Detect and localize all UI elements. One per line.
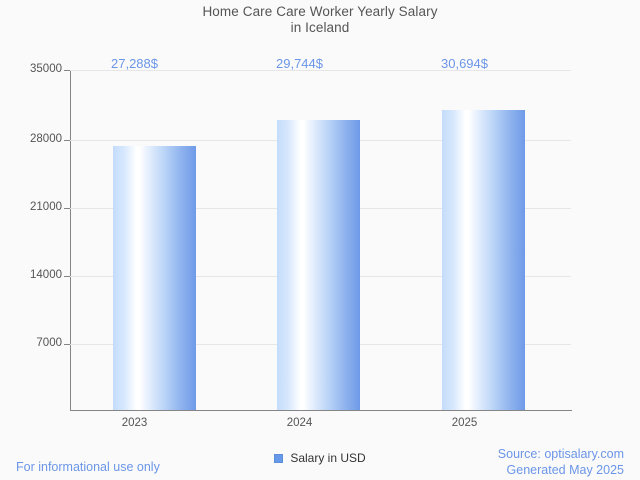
bar-2025[interactable] bbox=[442, 110, 525, 410]
x-tick-label-2024: 2024 bbox=[238, 417, 361, 429]
salary-bar-chart: Home Care Care Worker Yearly Salary in I… bbox=[0, 0, 640, 480]
footer-source: Source: optisalary.com bbox=[498, 446, 624, 462]
value-label-2024: 29,744$ bbox=[238, 56, 361, 71]
legend-swatch-icon bbox=[274, 454, 283, 463]
plot-area bbox=[70, 70, 571, 410]
chart-title-line1: Home Care Care Worker Yearly Salary bbox=[202, 4, 437, 19]
footer-generated: Generated May 2025 bbox=[498, 462, 624, 478]
legend-label: Salary in USD bbox=[290, 451, 365, 465]
x-tick-label-2023: 2023 bbox=[73, 417, 196, 429]
x-axis-line bbox=[70, 410, 572, 411]
chart-title: Home Care Care Worker Yearly Salary in I… bbox=[0, 4, 640, 36]
footer-disclaimer: For informational use only bbox=[16, 460, 160, 474]
chart-title-line2: in Iceland bbox=[0, 20, 640, 36]
y-tick-label-28000: 28000 bbox=[10, 133, 62, 145]
bar-2024[interactable] bbox=[277, 120, 360, 410]
y-tick-label-21000: 21000 bbox=[10, 201, 62, 213]
value-label-2023: 27,288$ bbox=[73, 56, 196, 71]
footer-source-block: Source: optisalary.com Generated May 202… bbox=[498, 446, 624, 478]
y-tick-label-7000: 7000 bbox=[10, 337, 62, 349]
bar-2023[interactable] bbox=[113, 146, 196, 410]
legend-item-salary[interactable]: Salary in USD bbox=[268, 450, 371, 466]
value-label-2025: 30,694$ bbox=[403, 56, 526, 71]
x-tick-label-2025: 2025 bbox=[403, 417, 526, 429]
y-tick-label-35000: 35000 bbox=[10, 63, 62, 75]
y-tick-label-14000: 14000 bbox=[10, 269, 62, 281]
